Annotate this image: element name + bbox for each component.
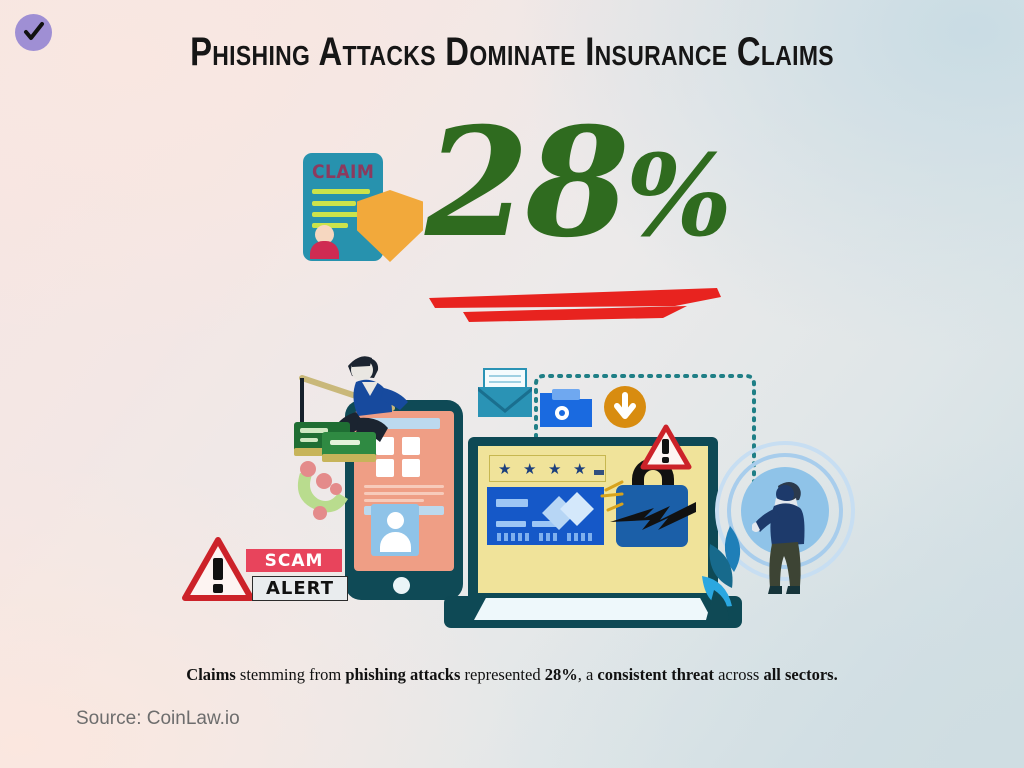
caption-plain: across [714, 665, 763, 684]
folder-settings-icon [540, 387, 592, 427]
alert-banner: ALERT [252, 576, 348, 601]
page-title: Phishing Attacks Dominate Insurance Clai… [92, 30, 932, 75]
stat-unit: % [626, 131, 728, 262]
check-icon [22, 20, 46, 44]
laptop-keyboard [474, 598, 712, 620]
stat-number: 28 [425, 95, 626, 271]
phone-home-button [393, 577, 410, 594]
credit-card-icon [487, 487, 604, 545]
scam-banner: SCAM [246, 549, 342, 572]
person-figure [752, 478, 816, 602]
caption-emphasis: all sectors. [763, 665, 837, 684]
caption-text: Claims stemming from phishing attacks re… [0, 665, 1024, 685]
stat-value: 28% [425, 108, 728, 258]
caption-plain: stemming from [236, 665, 346, 684]
source-label: Source: CoinLaw.io [76, 708, 240, 730]
decorative-bubbles [288, 455, 383, 525]
caption-plain: represented [460, 665, 544, 684]
password-cursor [594, 470, 604, 475]
download-icon [604, 386, 646, 428]
stat-underline [425, 278, 725, 326]
password-field: ★ ★ ★ ★ [489, 455, 606, 482]
caption-plain: , a [578, 665, 598, 684]
caption-emphasis: Claims [186, 665, 236, 684]
claim-line [312, 212, 364, 217]
claim-card-label: CLAIM [312, 161, 374, 183]
caption-emphasis: phishing attacks [345, 665, 460, 684]
impact-sparks [596, 478, 624, 512]
claim-line [312, 201, 356, 206]
phone-ui-tile [402, 459, 420, 477]
password-star: ★ [548, 462, 561, 477]
claim-person-body [310, 241, 339, 259]
phone-avatar-head [387, 512, 404, 529]
warning-triangle-icon [640, 424, 692, 470]
password-star: ★ [498, 462, 511, 477]
password-star: ★ [523, 462, 536, 477]
password-star: ★ [573, 462, 586, 477]
infographic-canvas: Phishing Attacks Dominate Insurance Clai… [0, 0, 1024, 768]
email-icon [476, 367, 534, 419]
warning-triangle-icon [182, 537, 254, 601]
card-bar [496, 521, 526, 527]
claim-line [312, 189, 370, 194]
caption-emphasis: consistent threat [597, 665, 714, 684]
caption-emphasis: 28% [545, 665, 578, 684]
card-bar [496, 499, 528, 507]
